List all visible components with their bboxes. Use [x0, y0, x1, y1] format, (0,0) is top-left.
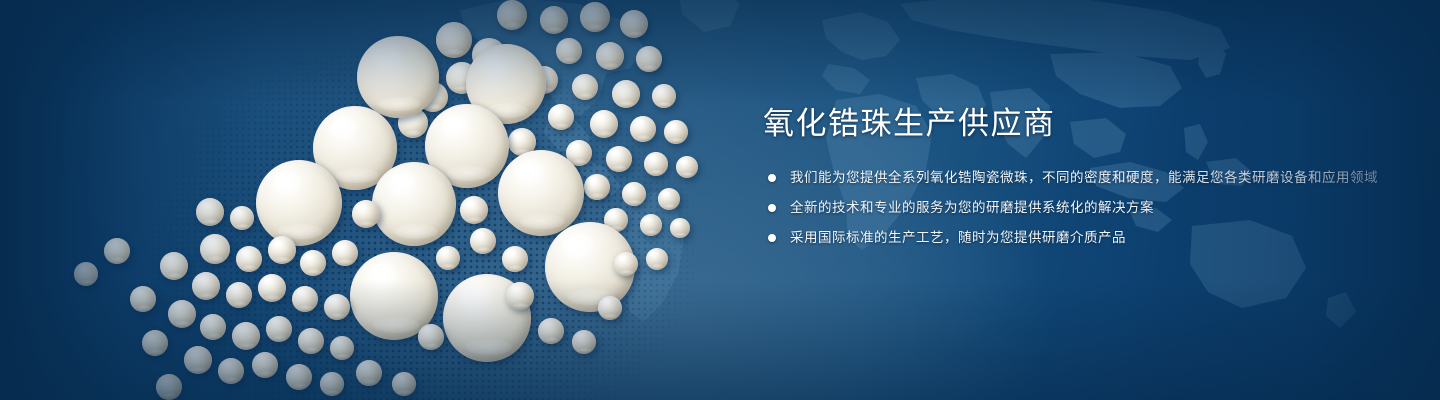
edge-vignette: [0, 0, 1440, 400]
hero-banner: 氧化锆珠生产供应商 我们能为您提供全系列氧化锆陶瓷微珠，不同的密度和硬度，能满足…: [0, 0, 1440, 400]
